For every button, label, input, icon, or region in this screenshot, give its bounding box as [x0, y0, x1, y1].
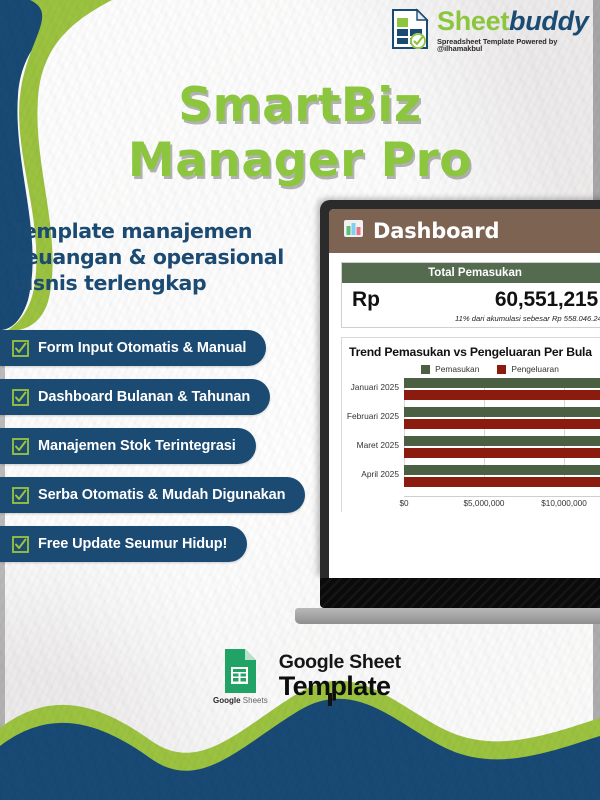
feature-item: Serba Otomatis & Mudah Digunakan	[0, 477, 305, 513]
feature-item: Manajemen Stok Terintegrasi	[0, 428, 256, 464]
bar-expense	[404, 419, 600, 429]
spreadsheet-document-icon	[390, 8, 430, 52]
caption-sheets: Sheets	[241, 696, 268, 705]
poster-canvas: Sheetbuddy Spreadsheet Template Powered …	[0, 0, 600, 800]
kpi-currency: Rp	[352, 288, 380, 312]
legend-swatch-income	[421, 365, 430, 374]
legend-swatch-expense	[497, 365, 506, 374]
bar-expense	[404, 477, 600, 487]
legend-label: Pengeluaran	[511, 364, 559, 374]
bar-expense	[404, 390, 600, 400]
bar-income	[404, 436, 600, 446]
text-cursor	[326, 693, 334, 706]
footer-line-1: Google Sheet	[279, 653, 401, 673]
feature-item: Free Update Seumur Hidup!	[0, 526, 247, 562]
checkbox-checked-icon	[12, 438, 29, 455]
checkbox-checked-icon	[12, 340, 29, 357]
trend-chart-card: Trend Pemasukan vs Pengeluaran Per Bula …	[341, 337, 600, 512]
dashboard-header: Dashboard	[329, 209, 600, 253]
logo-tagline: Spreadsheet Template Powered by @ilhamak…	[437, 38, 600, 53]
dashboard-body: Total Pemasukan Rp 60,551,215 11% dari a…	[329, 253, 600, 512]
feature-item: Form Input Otomatis & Manual	[0, 330, 266, 366]
checkbox-checked-icon	[12, 389, 29, 406]
bar-income	[404, 407, 600, 417]
google-sheets-brand: Google Sheets	[213, 648, 268, 705]
footer-text: Google Sheet Template	[279, 653, 401, 701]
laptop-mockup: Dashboard Total Pemasukan Rp 60,551,215 …	[320, 200, 600, 608]
feature-label: Serba Otomatis & Mudah Digunakan	[38, 487, 285, 503]
kpi-title: Total Pemasukan	[342, 263, 600, 283]
checkbox-checked-icon	[12, 487, 29, 504]
legend-item-pengeluaran: Pengeluaran	[497, 364, 559, 374]
laptop-bezel-bottom	[320, 578, 600, 608]
feature-list: Form Input Otomatis & Manual Dashboard B…	[0, 330, 330, 575]
feature-label: Form Input Otomatis & Manual	[38, 340, 246, 356]
title-line-2: Manager Pro	[0, 133, 600, 188]
chart-title: Trend Pemasukan vs Pengeluaran Per Bula	[342, 345, 600, 359]
caption-google: Google	[213, 696, 241, 705]
bar-expense	[404, 448, 600, 458]
x-tick-label: $10,000,000	[541, 499, 587, 508]
logo-word-buddy: buddy	[509, 6, 589, 36]
kpi-note: 11% dari akumulasi sebesar Rp 558.046.24…	[342, 314, 600, 327]
subheadline: Template manajemen keuangan & operasiona…	[12, 218, 312, 297]
chart-x-axis: $0 $5,000,000 $10,000,000	[404, 496, 600, 512]
chart-row: Maret 2025	[404, 436, 600, 461]
legend-item-pemasukan: Pemasukan	[421, 364, 479, 374]
category-label: Januari 2025	[342, 382, 399, 392]
brand-logo: Sheetbuddy Spreadsheet Template Powered …	[390, 8, 600, 53]
page-title: SmartBiz Manager Pro	[0, 78, 600, 189]
legend-label: Pemasukan	[435, 364, 479, 374]
bar-income	[404, 378, 600, 388]
dashboard-screen: Dashboard Total Pemasukan Rp 60,551,215 …	[329, 209, 600, 578]
bar-income	[404, 465, 600, 475]
category-label: April 2025	[342, 469, 399, 479]
kpi-value-row: Rp 60,551,215	[342, 283, 600, 314]
subheadline-line-3: bisnis terlengkap	[12, 270, 312, 296]
subheadline-line-1: Template manajemen	[12, 218, 312, 244]
kpi-card-total-pemasukan: Total Pemasukan Rp 60,551,215 11% dari a…	[341, 262, 600, 328]
chart-plot-area: Januari 2025 Februari 2025 Maret 2025	[342, 378, 600, 496]
feature-label: Dashboard Bulanan & Tahunan	[38, 389, 250, 405]
dashboard-title: Dashboard	[373, 219, 499, 243]
chart-row: Februari 2025	[404, 407, 600, 432]
category-label: Maret 2025	[342, 440, 399, 450]
feature-label: Manajemen Stok Terintegrasi	[38, 438, 236, 454]
x-tick-label: $5,000,000	[464, 499, 505, 508]
feature-label: Free Update Seumur Hidup!	[38, 536, 227, 552]
logo-word-sheet: Sheet	[437, 6, 509, 36]
bar-chart-icon	[343, 218, 364, 244]
laptop-screen-bezel: Dashboard Total Pemasukan Rp 60,551,215 …	[320, 200, 600, 578]
google-sheets-caption: Google Sheets	[213, 696, 268, 705]
chart-row: April 2025	[404, 465, 600, 490]
chart-legend: Pemasukan Pengeluaran	[372, 364, 600, 374]
category-label: Februari 2025	[342, 411, 399, 421]
checkbox-checked-icon	[12, 536, 29, 553]
title-line-1: SmartBiz	[0, 78, 600, 133]
x-tick-label: $0	[399, 499, 408, 508]
feature-item: Dashboard Bulanan & Tahunan	[0, 379, 270, 415]
subheadline-line-2: keuangan & operasional	[12, 244, 312, 270]
footer-line-2: Template	[279, 673, 401, 700]
google-sheet-footer: Google Sheets Google Sheet Template	[213, 648, 401, 705]
chart-row: Januari 2025	[404, 378, 600, 403]
kpi-value: 60,551,215	[495, 288, 598, 312]
laptop-base	[295, 608, 600, 624]
google-sheets-icon	[222, 648, 258, 694]
